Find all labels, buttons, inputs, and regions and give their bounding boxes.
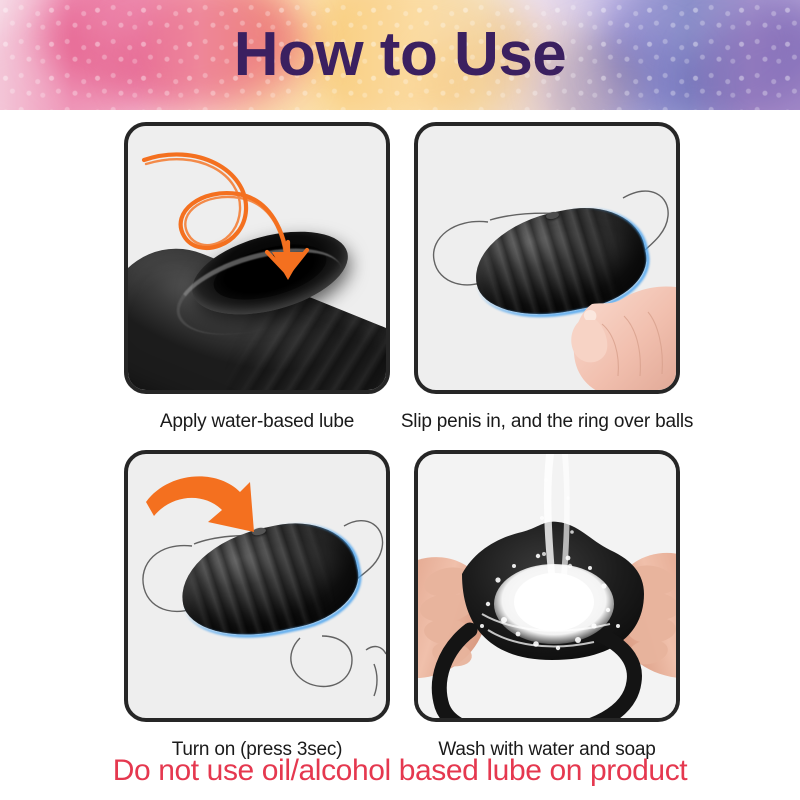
step-card-4: Wash with water and soap [414, 450, 680, 778]
step-caption-2: Slip penis in, and the ring over balls [414, 394, 680, 450]
step-image-3 [124, 450, 390, 722]
step-card-3: Turn on (press 3sec) [124, 450, 390, 778]
step-image-1 [124, 122, 390, 394]
warning-banner: Do not use oil/alcohol based lube on pro… [0, 748, 800, 794]
warning-text: Do not use oil/alcohol based lube on pro… [113, 754, 687, 788]
orange-curved-arrow-icon [142, 470, 272, 560]
arrow-head-icon [272, 252, 304, 280]
step-card-1: Apply water-based lube [124, 122, 390, 450]
hand-icon [562, 258, 680, 394]
step-image-2 [414, 122, 680, 394]
step-caption-1: Apply water-based lube [124, 394, 390, 450]
steps-grid: Apply water-based lube [124, 122, 680, 778]
orange-loop-arrow-icon [136, 144, 386, 384]
step-image-4 [414, 450, 680, 722]
page-title: How to Use [0, 0, 800, 110]
washing-illustration [418, 454, 680, 720]
step-card-2: Slip penis in, and the ring over balls [414, 122, 680, 450]
